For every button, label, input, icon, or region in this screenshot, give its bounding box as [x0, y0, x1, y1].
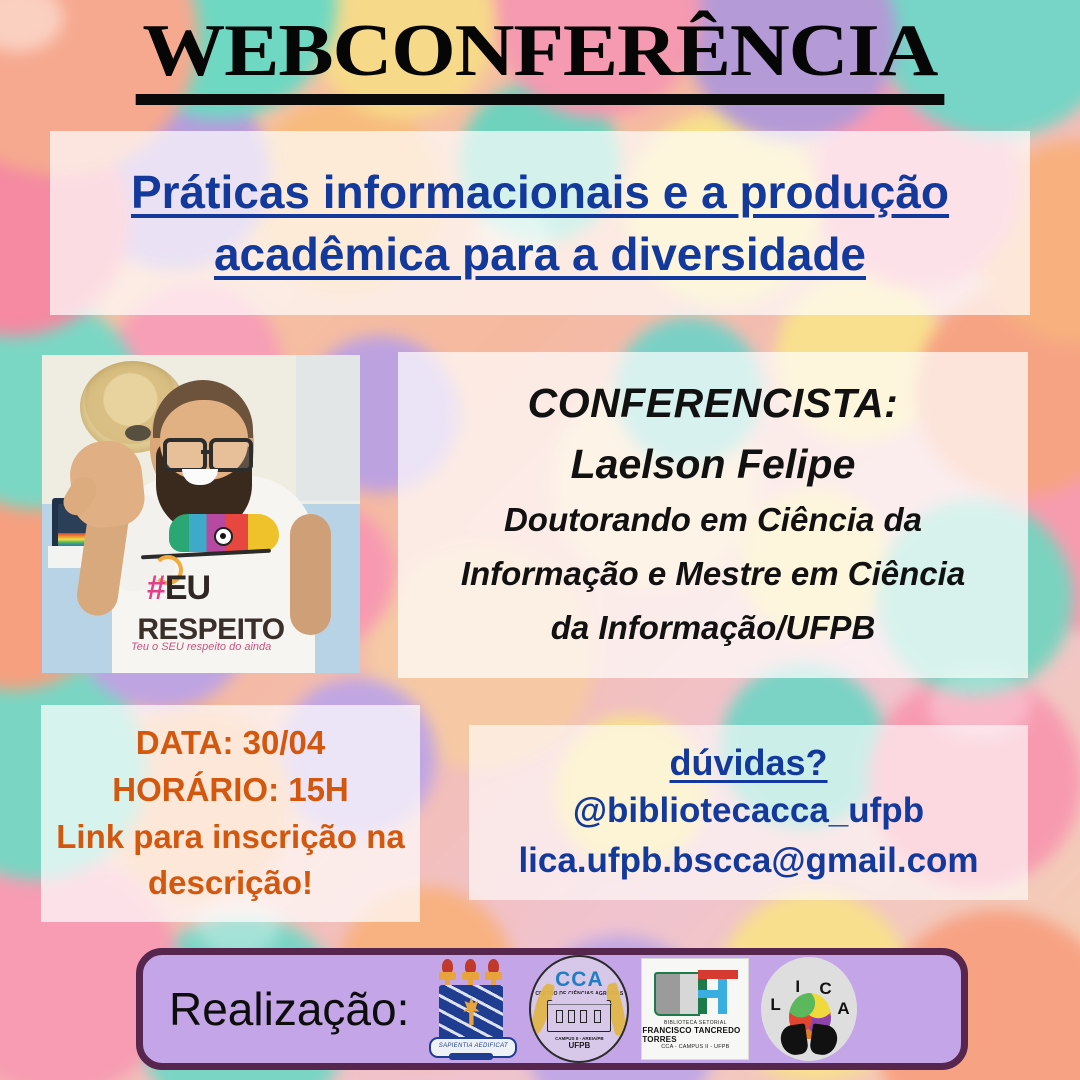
- cca-acronym: CCA: [555, 969, 604, 990]
- lica-logo: L I C A: [761, 957, 857, 1061]
- hand-icon-right: [809, 1023, 839, 1056]
- biblioteca-logo: BIBLIOTECA SETORIAL FRANCISCO TANCREDO T…: [641, 958, 749, 1060]
- biblioteca-line-2: FRANCISCO TANCREDO TORRES: [642, 1026, 748, 1044]
- hash-symbol: #: [147, 569, 165, 607]
- organizers-label: Realização:: [169, 982, 409, 1036]
- cca-seal-logo: CCA CENTRO DE CIÊNCIAS AGRÁRIAS CAMPUS I…: [529, 955, 629, 1063]
- glasses-bridge: [201, 450, 212, 454]
- lica-letter-a: A: [837, 999, 849, 1019]
- hand-icon-left: [779, 1023, 809, 1056]
- ufpb-crest-logo: SAPIENTIA AEDIFICAT: [425, 957, 517, 1061]
- event-time: HORÁRIO: 15H: [112, 767, 349, 814]
- hat-band: [125, 425, 151, 441]
- building-icon: [547, 1000, 611, 1032]
- contact-heading: dúvidas?: [669, 742, 827, 784]
- biblioteca-line-3: CCA - CAMPUS II - UFPB: [661, 1044, 729, 1050]
- speaker-bio-line-1: Doutorando em Ciência da: [504, 498, 922, 542]
- lica-letter-i: I: [795, 977, 800, 997]
- poster-header: WEBCONFERÊNCIA: [0, 14, 1080, 105]
- glasses-left-lens: [163, 438, 207, 472]
- photo-wall-right: [296, 355, 360, 501]
- event-details-panel: DATA: 30/04 HORÁRIO: 15H Link para inscr…: [41, 705, 420, 922]
- event-poster: WEBCONFERÊNCIA Práticas informacionais e…: [0, 0, 1080, 1080]
- instagram-handle[interactable]: @bibliotecacca_ufpb: [573, 788, 924, 834]
- speaker-info-panel: CONFERENCISTA: Laelson Felipe Doutorando…: [398, 352, 1028, 678]
- organizers-bar: Realização: SAPIENTIA AEDIFICAT CCA CENT…: [136, 948, 968, 1070]
- speaker-name: Laelson Felipe: [571, 441, 856, 488]
- contact-panel: dúvidas? @bibliotecacca_ufpb lica.ufpb.b…: [469, 725, 1028, 900]
- page-title: WEBCONFERÊNCIA: [136, 14, 944, 105]
- speaker-role-label: CONFERENCISTA:: [528, 380, 899, 427]
- conference-title-line-1: Práticas informacionais e a produção: [131, 161, 949, 223]
- cca-university: UFPB: [568, 1041, 590, 1050]
- book-ft-monogram-icon: [652, 968, 738, 1016]
- conference-title-line-2: acadêmica para a diversidade: [214, 223, 866, 285]
- chameleon-eye-icon: [214, 527, 233, 546]
- crest-base: [449, 1053, 493, 1060]
- shirt-text-eu: #EU: [147, 571, 293, 612]
- registration-line-2: descrição!: [148, 860, 313, 907]
- speaker-bio-line-3: da Informação/UFPB: [551, 606, 876, 650]
- shirt-eu-word: EU: [165, 569, 210, 607]
- conference-title-panel: Práticas informacionais e a produção aca…: [50, 131, 1030, 315]
- speaker-photo: #EU RESPEITO Teu o SEU respeito do ainda: [42, 355, 360, 673]
- speaker-bio-line-2: Informação e Mestre em Ciência: [461, 552, 965, 596]
- registration-line-1: Link para inscrição na: [56, 814, 404, 861]
- glasses-right-lens: [209, 438, 253, 472]
- lica-letter-l: L: [770, 995, 780, 1015]
- shirt-slogan: Teu o SEU respeito do ainda: [131, 641, 309, 653]
- event-date: DATA: 30/04: [136, 720, 326, 767]
- contact-email[interactable]: lica.ufpb.bscca@gmail.com: [518, 838, 978, 884]
